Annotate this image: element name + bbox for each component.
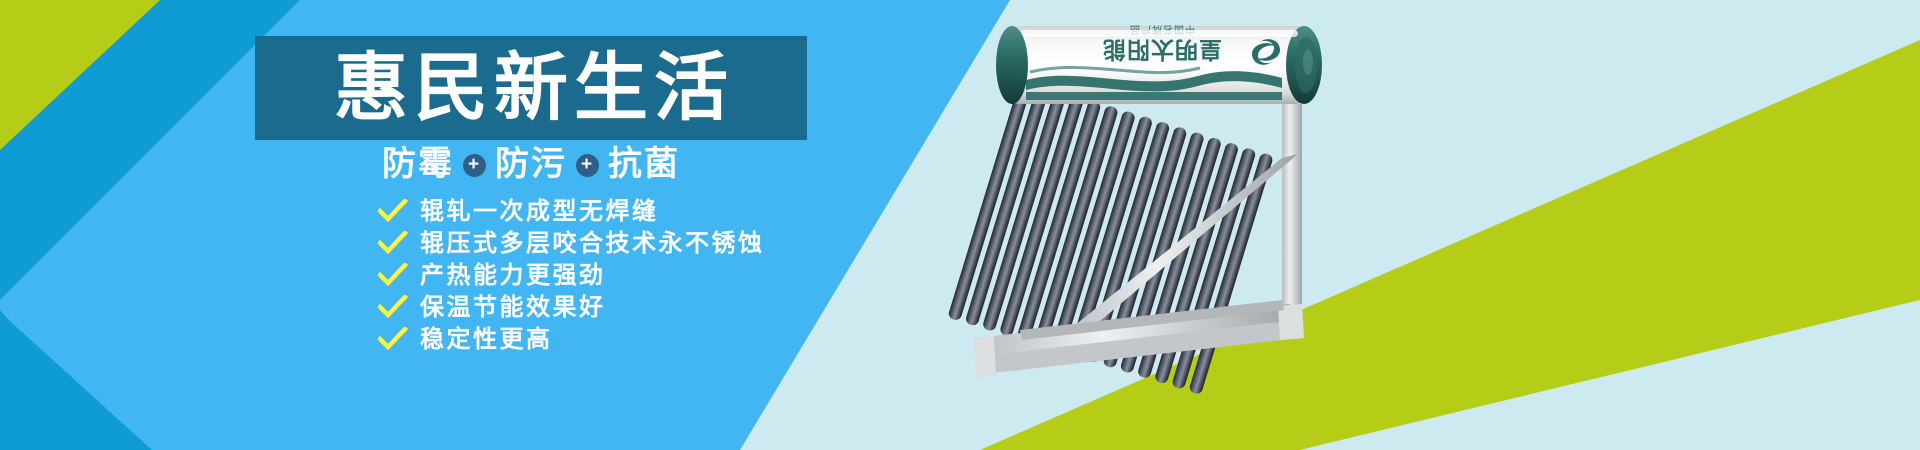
feature-list: 辊轧一次成型无焊缝 辊压式多层咬合技术永不锈蚀 产热能力更强劲 — [378, 196, 765, 356]
storage-tank: 皇明太阳能 中国名牌产品 — [996, 23, 1322, 104]
feature-item: 产热能力更强劲 — [378, 260, 765, 291]
plus-badge-icon-2: + — [576, 154, 599, 177]
subtitle-part-3: 抗菌 — [608, 142, 680, 186]
page-title: 惠民新生活 — [328, 51, 734, 125]
feature-label: 保温节能效果好 — [420, 296, 606, 320]
check-icon — [378, 199, 408, 225]
check-icon — [378, 263, 408, 289]
svg-text:皇明太阳能: 皇明太阳能 — [1102, 36, 1222, 63]
feature-label: 产热能力更强劲 — [420, 264, 606, 288]
feature-item: 辊轧一次成型无焊缝 — [378, 196, 765, 227]
title-plate: 惠民新生活 — [255, 36, 807, 140]
feature-item: 稳定性更高 — [378, 324, 765, 355]
tank-cap-left — [996, 26, 1028, 104]
subtitle: 防霉 + 防污 + 抗菌 — [255, 142, 807, 186]
text-content: 惠民新生活 防霉 + 防污 + 抗菌 辊轧一次成型无焊缝 — [0, 0, 900, 450]
check-icon — [378, 327, 408, 353]
feature-label: 辊压式多层咬合技术永不锈蚀 — [420, 232, 765, 256]
solar-water-heater-image: 皇明太阳能 中国名牌产品 — [930, 8, 1550, 448]
plus-badge-icon-1: + — [463, 154, 486, 177]
feature-label: 辊轧一次成型无焊缝 — [420, 200, 659, 224]
subtitle-part-2: 防污 — [495, 142, 567, 186]
check-icon — [378, 295, 408, 321]
check-icon — [378, 231, 408, 257]
feature-item: 辊压式多层咬合技术永不锈蚀 — [378, 228, 765, 259]
feature-label: 稳定性更高 — [420, 328, 553, 352]
promo-banner: 惠民新生活 防霉 + 防污 + 抗菌 辊轧一次成型无焊缝 — [0, 0, 1920, 450]
subtitle-part-1: 防霉 — [382, 142, 454, 186]
feature-item: 保温节能效果好 — [378, 292, 765, 323]
